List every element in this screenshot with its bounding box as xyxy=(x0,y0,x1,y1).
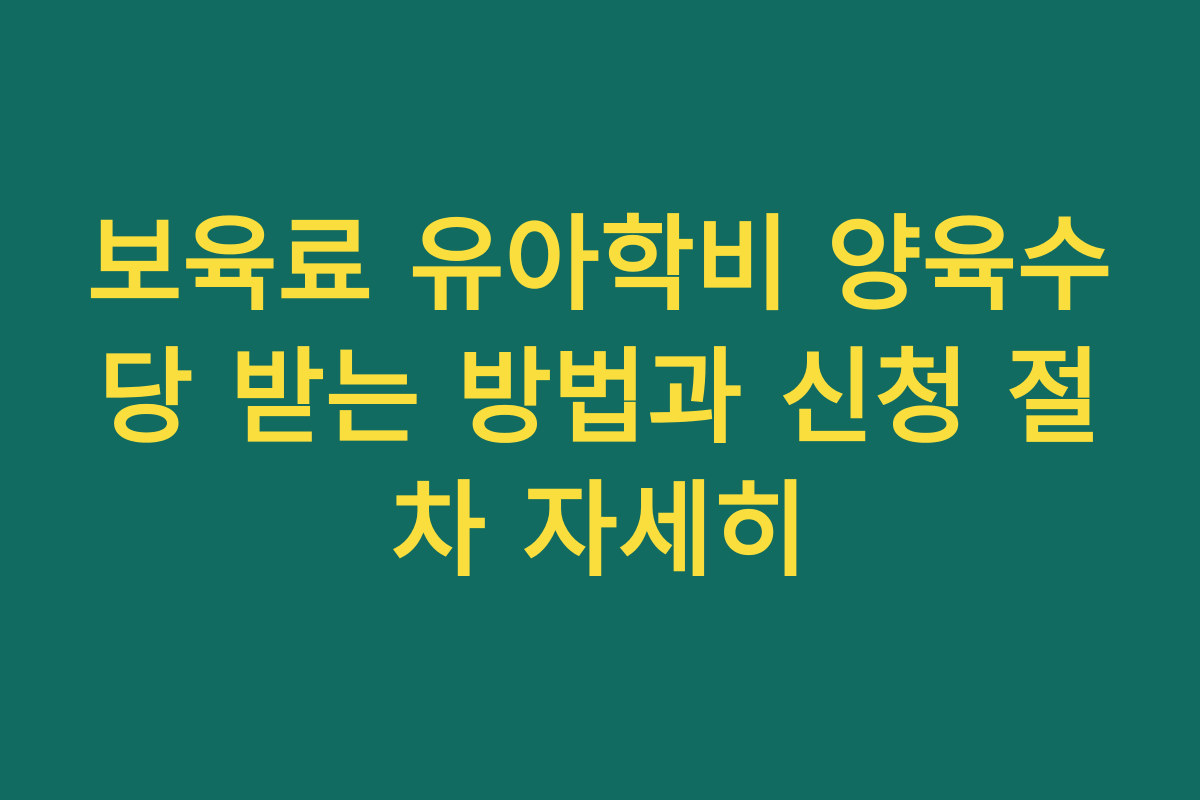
title-line-1: 보육료 유아학비 양육수 xyxy=(70,199,1130,332)
title-line-2: 당 받는 방법과 신청 절 xyxy=(70,332,1130,465)
title-line-3: 차 자세히 xyxy=(70,465,1130,598)
title-card: 보육료 유아학비 양육수 당 받는 방법과 신청 절 차 자세히 xyxy=(0,0,1200,800)
page-title: 보육료 유아학비 양육수 당 받는 방법과 신청 절 차 자세히 xyxy=(70,199,1130,598)
